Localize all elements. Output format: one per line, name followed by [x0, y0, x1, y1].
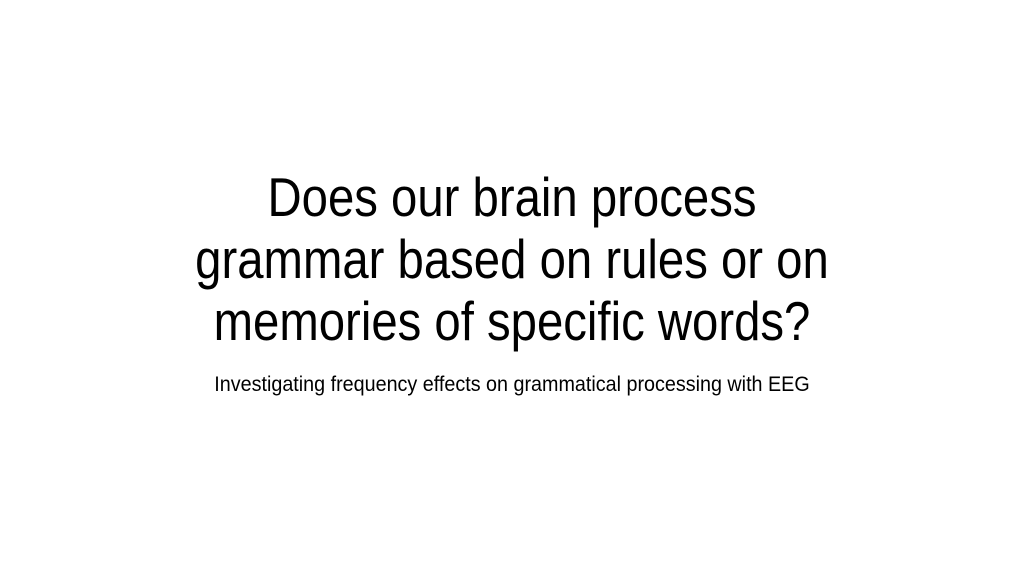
slide-title-line-2: grammar based on rules or on [125, 228, 899, 290]
slide-subtitle: Investigating frequency effects on gramm… [62, 372, 962, 398]
slide-title-line-1: Does our brain process [125, 166, 899, 228]
slide-subtitle-line-1: Investigating frequency effects on gramm… [89, 372, 935, 398]
slide-title: Does our brain process grammar based on … [62, 166, 962, 352]
slide-title-line-3: memories of specific words? [125, 290, 899, 352]
presentation-slide: Does our brain process grammar based on … [0, 0, 1024, 576]
